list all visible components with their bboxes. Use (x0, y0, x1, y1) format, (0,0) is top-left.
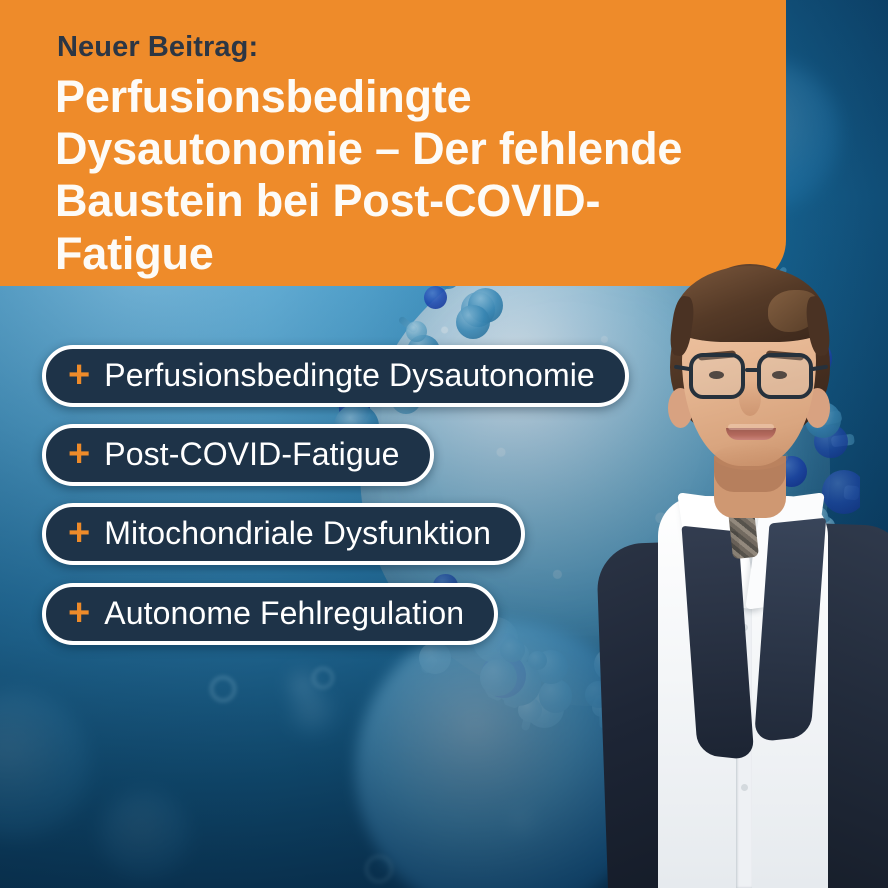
social-post-card: Neuer Beitrag: Perfusionsbedingte Dysaut… (0, 0, 888, 888)
plus-icon: + (68, 514, 90, 552)
topic-pill[interactable]: +Mitochondriale Dysfunktion (42, 503, 525, 565)
plus-icon: + (68, 356, 90, 394)
plus-icon: + (68, 435, 90, 473)
presenter-portrait (586, 252, 888, 888)
page-title: Perfusionsbedingte Dysautonomie – Der fe… (55, 71, 755, 280)
topic-pill-label: Autonome Fehlregulation (104, 595, 464, 632)
plus-icon: + (68, 594, 90, 632)
topic-pill[interactable]: +Autonome Fehlregulation (42, 583, 498, 645)
topic-pill[interactable]: +Post-COVID-Fatigue (42, 424, 434, 486)
topic-pill-label: Mitochondriale Dysfunktion (104, 515, 491, 552)
header-panel: Neuer Beitrag: Perfusionsbedingte Dysaut… (0, 0, 786, 286)
eyeglasses-bridge (745, 368, 759, 372)
topic-pill-label: Perfusionsbedingte Dysautonomie (104, 357, 595, 394)
topic-pill[interactable]: +Perfusionsbedingte Dysautonomie (42, 345, 629, 407)
eyeglasses-right-lens (757, 353, 813, 399)
kicker-label: Neuer Beitrag: (57, 31, 258, 64)
topic-pill-label: Post-COVID-Fatigue (104, 436, 399, 473)
eyeglasses-left-lens (689, 353, 745, 399)
